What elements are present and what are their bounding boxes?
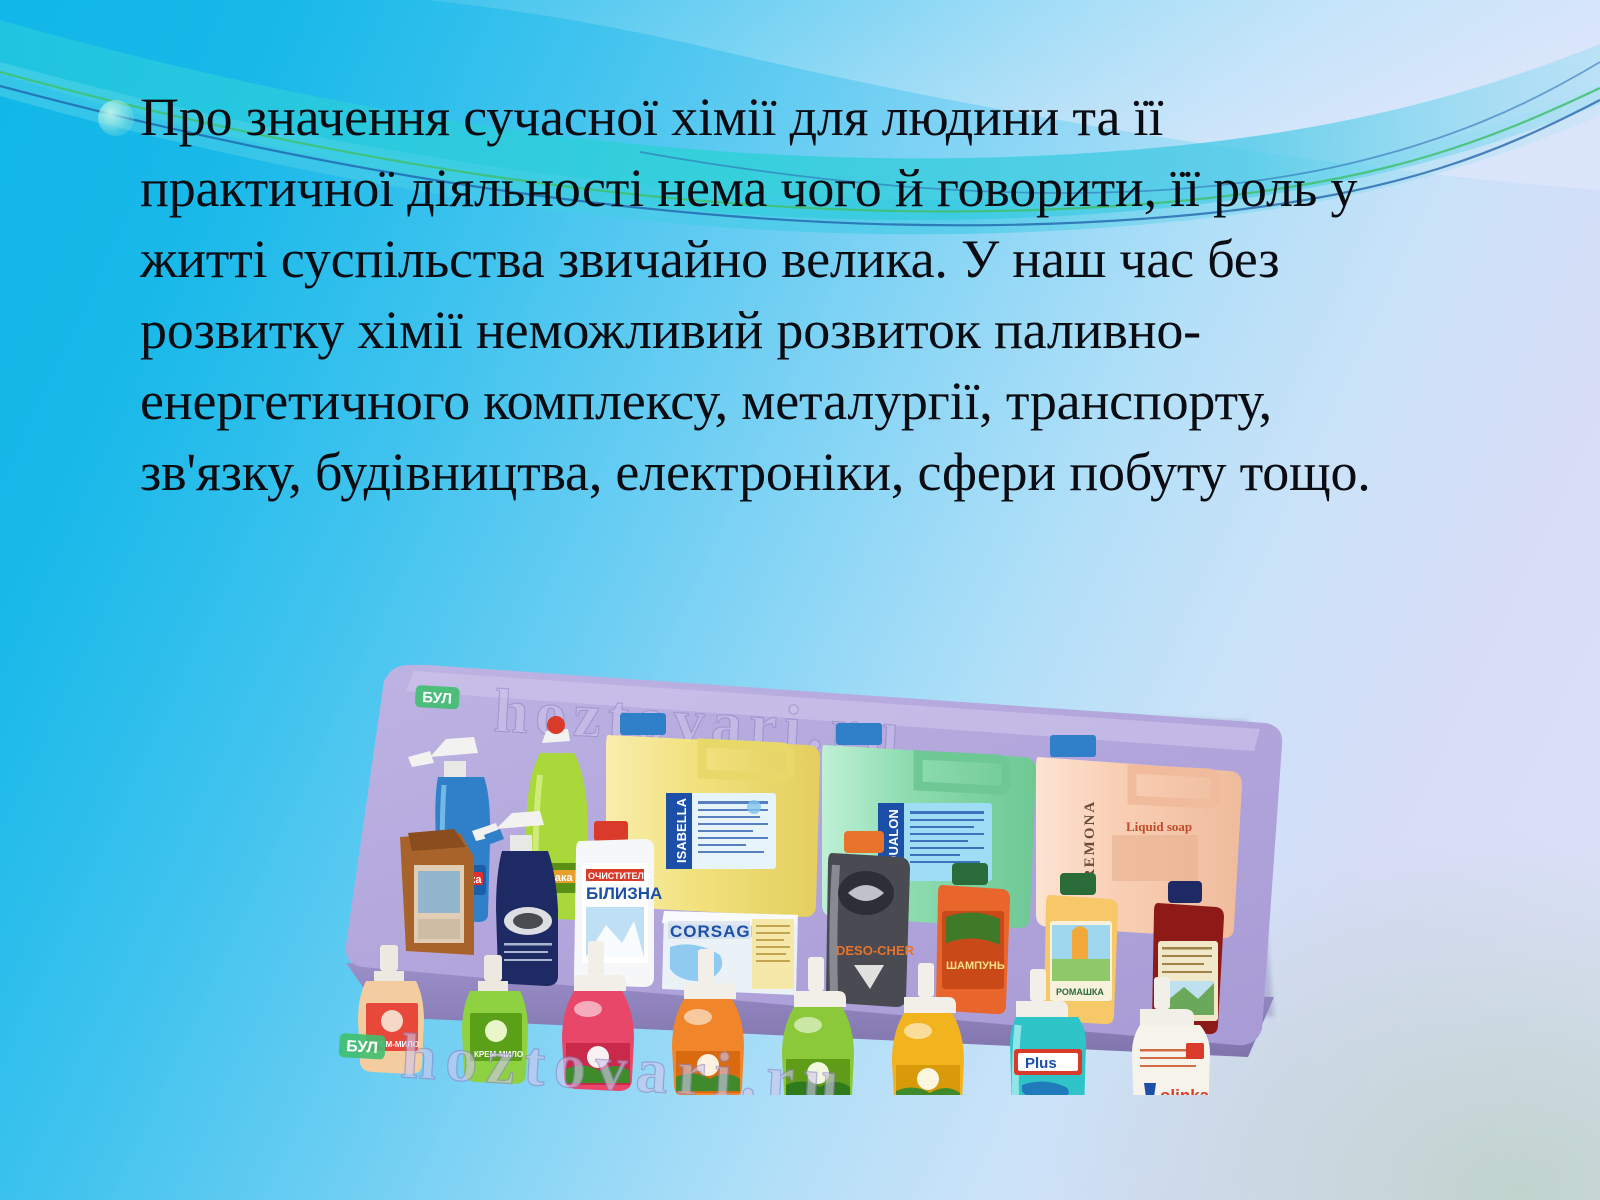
product-photo: hoztovari.ru БУЛ Шпака <box>288 625 1303 1095</box>
presentation-slide: Про значення сучасної хімії для людини т… <box>0 0 1600 1200</box>
product-deso-cher: DESO-CHER <box>826 831 915 1007</box>
svg-text:DESO-CHER: DESO-CHER <box>836 943 915 958</box>
logo-badge-bottom: БУЛ <box>339 1033 386 1060</box>
product-wood-care <box>400 829 474 955</box>
svg-text:БУЛ: БУЛ <box>346 1038 379 1057</box>
svg-text:РОМАШКА: РОМАШКА <box>1056 987 1104 997</box>
decorative-bubble-icon <box>98 100 134 136</box>
product-bilyzna: ОЧИСТИТЕЛЬ БІЛИЗНА <box>574 821 662 987</box>
svg-text:Plus: Plus <box>1025 1055 1057 1072</box>
svg-text:ШАМПУНЬ: ШАМПУНЬ <box>946 960 1005 972</box>
product-corsage: CORSAGE <box>662 911 798 995</box>
svg-text:ОЧИСТИТЕЛЬ: ОЧИСТИТЕЛЬ <box>588 871 651 881</box>
svg-text:БУЛ: БУЛ <box>422 689 453 708</box>
slide-body-text: Про значення сучасної хімії для людини т… <box>140 82 1430 508</box>
logo-badge-top: БУЛ <box>415 685 460 709</box>
svg-text:Liquid soap: Liquid soap <box>1126 819 1192 834</box>
svg-text:olinka: olinka <box>1160 1086 1210 1095</box>
svg-text:CORSAGE: CORSAGE <box>670 922 763 941</box>
svg-text:БІЛИЗНА: БІЛИЗНА <box>586 884 662 903</box>
svg-text:ISABELLA: ISABELLA <box>674 797 689 863</box>
